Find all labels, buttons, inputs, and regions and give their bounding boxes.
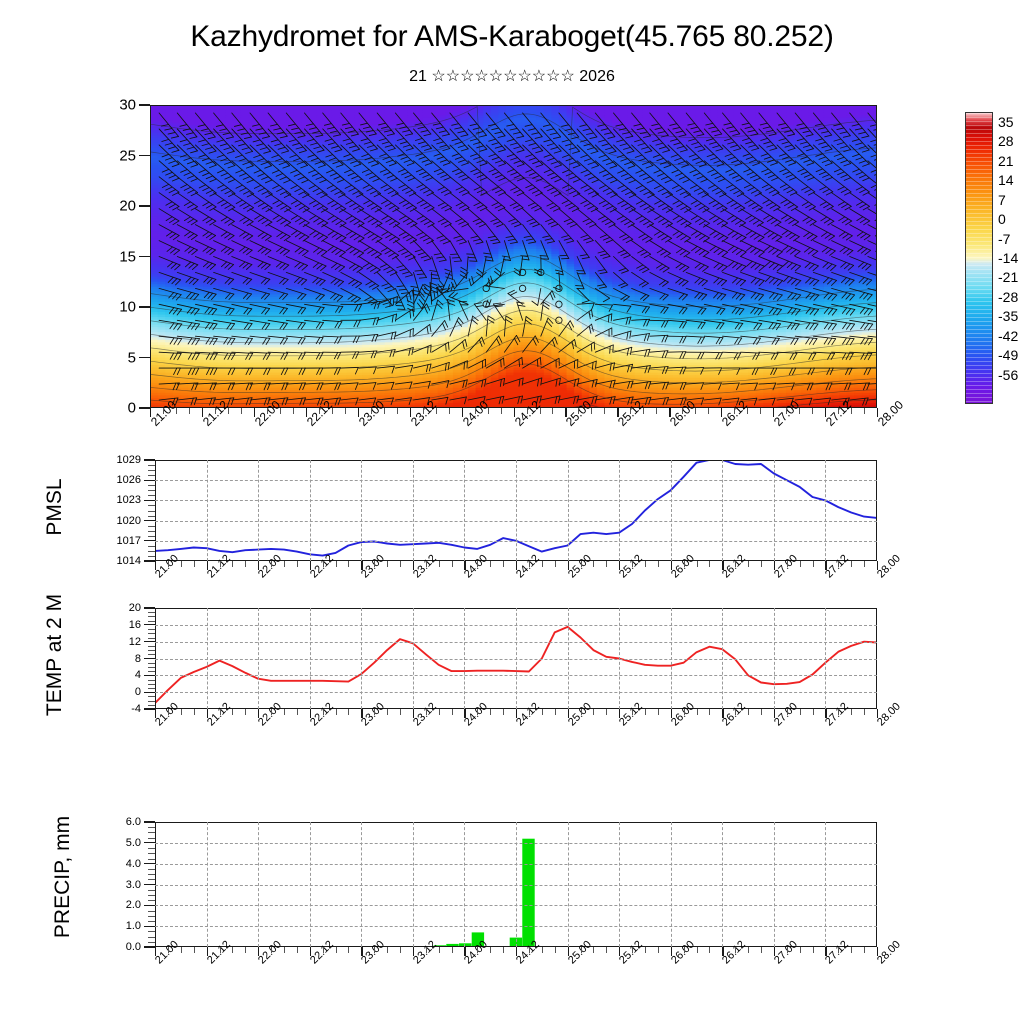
y-tick-label: 1014	[93, 555, 141, 567]
x-tick-minor	[684, 947, 685, 953]
x-tick-minor	[293, 408, 294, 414]
grid-line-horizontal	[155, 541, 877, 542]
y-tick-minor	[148, 551, 155, 552]
x-tick-minor	[864, 561, 865, 567]
x-tick-minor	[490, 561, 491, 567]
y-tick-minor	[148, 650, 155, 651]
colorbar-tick-label: -35	[998, 308, 1018, 324]
y-tick-minor	[148, 832, 155, 833]
x-tick-minor	[658, 947, 659, 953]
x-tick-minor	[581, 561, 582, 567]
x-tick-minor	[374, 947, 375, 953]
x-tick-minor	[643, 408, 644, 414]
y-tick-minor	[148, 879, 155, 880]
y-tick-label: 16	[93, 619, 141, 631]
y-tick-minor	[148, 853, 155, 854]
x-tick-minor	[423, 408, 424, 414]
temp-axis-title: TEMP at 2 M	[43, 580, 67, 730]
x-tick-minor	[787, 947, 788, 953]
x-tick-minor	[684, 561, 685, 567]
x-tick-minor	[241, 408, 242, 414]
y-tick-major	[144, 946, 155, 947]
x-tick-minor	[323, 561, 324, 567]
grid-line-vertical	[825, 460, 826, 561]
y-tick-label: 20	[88, 198, 136, 215]
x-tick-label: 28.00	[875, 701, 903, 729]
x-tick-minor	[323, 709, 324, 715]
x-tick-minor	[658, 709, 659, 715]
grid-line-horizontal	[155, 905, 877, 906]
x-tick-minor	[189, 408, 190, 414]
y-tick-label: 15	[88, 248, 136, 265]
x-tick-minor	[400, 709, 401, 715]
y-tick-major	[139, 205, 150, 206]
x-tick-minor	[555, 709, 556, 715]
y-tick-minor	[148, 874, 155, 875]
x-tick-label: 28.00	[875, 939, 903, 967]
x-tick-minor	[371, 408, 372, 414]
y-tick-major	[144, 641, 155, 642]
x-tick-minor	[656, 408, 657, 414]
x-tick-minor	[503, 709, 504, 715]
y-tick-major	[144, 884, 155, 885]
x-tick-minor	[786, 408, 787, 414]
x-tick-minor	[220, 561, 221, 567]
colorbar-tick-label: -42	[998, 328, 1018, 344]
y-tick-label: -4	[93, 703, 141, 715]
y-tick-major	[144, 560, 155, 561]
y-tick-major	[144, 658, 155, 659]
y-tick-minor	[148, 921, 155, 922]
x-tick-minor	[695, 408, 696, 414]
x-tick-minor	[761, 947, 762, 953]
y-tick-label: 30	[88, 97, 136, 114]
y-tick-minor	[148, 942, 155, 943]
x-tick-minor	[452, 561, 453, 567]
y-tick-minor	[148, 556, 155, 557]
x-tick-minor	[488, 408, 489, 414]
x-tick-minor	[490, 709, 491, 715]
x-tick-minor	[387, 709, 388, 715]
x-tick-minor	[271, 561, 272, 567]
grid-line-vertical	[310, 460, 311, 561]
x-tick-minor	[452, 709, 453, 715]
x-tick-minor	[284, 947, 285, 953]
x-tick-minor	[232, 561, 233, 567]
y-tick-minor	[148, 546, 155, 547]
x-tick-minor	[542, 709, 543, 715]
grid-line-vertical	[516, 460, 517, 561]
x-tick-minor	[194, 709, 195, 715]
y-tick-major	[144, 459, 155, 460]
x-tick-minor	[336, 709, 337, 715]
y-tick-minor	[148, 701, 155, 702]
grid-line-vertical	[774, 460, 775, 561]
y-tick-minor	[148, 684, 155, 685]
grid-line-horizontal	[155, 864, 877, 865]
cross-section-panel: 051015202530 21.0021.1222.0022.1223.0023…	[0, 0, 1024, 455]
x-tick-minor	[232, 947, 233, 953]
y-tick-minor	[148, 869, 155, 870]
x-tick-minor	[748, 947, 749, 953]
y-tick-minor	[148, 470, 155, 471]
x-tick-minor	[748, 561, 749, 567]
y-tick-major	[139, 306, 150, 307]
x-tick-minor	[348, 947, 349, 953]
y-tick-minor	[148, 859, 155, 860]
colorbar-tick-label: -14	[998, 250, 1018, 266]
y-tick-label: 3.0	[93, 879, 141, 891]
x-tick-minor	[630, 408, 631, 414]
grid-line-vertical	[568, 460, 569, 561]
x-tick-minor	[708, 408, 709, 414]
x-tick-minor	[490, 947, 491, 953]
x-tick-minor	[436, 408, 437, 414]
precip-panel: PRECIP, mm 0.01.02.03.04.05.06.0 21.0021…	[0, 810, 1024, 1000]
x-tick-minor	[552, 408, 553, 414]
y-tick-major	[144, 500, 155, 501]
x-tick-minor	[581, 709, 582, 715]
y-tick-minor	[148, 465, 155, 466]
x-tick-minor	[682, 408, 683, 414]
colorbar-tick-label: 0	[998, 211, 1006, 227]
colorbar-tick-label: -28	[998, 289, 1018, 305]
y-tick-minor	[148, 827, 155, 828]
x-tick-minor	[503, 561, 504, 567]
x-tick-minor	[477, 709, 478, 715]
x-tick-minor	[348, 709, 349, 715]
y-tick-minor	[148, 616, 155, 617]
x-tick-minor	[215, 408, 216, 414]
y-tick-label: 25	[88, 147, 136, 164]
y-tick-minor	[148, 680, 155, 681]
x-tick-minor	[787, 709, 788, 715]
y-tick-minor	[148, 900, 155, 901]
x-tick-minor	[439, 947, 440, 953]
x-tick-minor	[800, 709, 801, 715]
y-tick-minor	[148, 629, 155, 630]
grid-line-horizontal	[155, 885, 877, 886]
grid-line-horizontal	[155, 521, 877, 522]
x-tick-minor	[606, 709, 607, 715]
y-tick-minor	[148, 890, 155, 891]
x-tick-minor	[384, 408, 385, 414]
x-tick-minor	[734, 408, 735, 414]
y-tick-minor	[148, 526, 155, 527]
x-tick-minor	[864, 408, 865, 414]
y-tick-major	[144, 480, 155, 481]
temp-panel: TEMP at 2 M -4048121620 21.0021.1222.002…	[0, 598, 1024, 743]
grid-line-vertical	[361, 460, 362, 561]
y-tick-minor	[148, 848, 155, 849]
x-tick-minor	[800, 561, 801, 567]
x-tick-minor	[851, 709, 852, 715]
x-tick-minor	[345, 408, 346, 414]
colorbar-tick-label: -21	[998, 269, 1018, 285]
x-tick-minor	[864, 709, 865, 715]
pmsl-panel: PMSL 101410171020102310261029 21.0021.12…	[0, 450, 1024, 590]
y-tick-minor	[148, 511, 155, 512]
y-tick-major	[144, 624, 155, 625]
colorbar-tick-label: 28	[998, 133, 1014, 149]
x-tick-minor	[709, 709, 710, 715]
y-tick-minor	[148, 838, 155, 839]
x-tick-minor	[336, 561, 337, 567]
colorbar-tick-label: 21	[998, 153, 1014, 169]
x-tick-label: 28.00	[875, 398, 906, 429]
y-tick-minor	[148, 895, 155, 896]
precip-axis-title: PRECIP, mm	[51, 792, 75, 962]
x-tick-minor	[374, 561, 375, 567]
colorbar-band-lines	[966, 113, 992, 403]
x-tick-minor	[864, 947, 865, 953]
y-tick-label: 1023	[93, 494, 141, 506]
x-tick-minor	[735, 561, 736, 567]
x-tick-minor	[632, 561, 633, 567]
x-tick-minor	[632, 947, 633, 953]
y-tick-minor	[148, 505, 155, 506]
x-tick-minor	[267, 408, 268, 414]
x-tick-minor	[684, 709, 685, 715]
x-tick-minor	[280, 408, 281, 414]
x-tick-minor	[220, 709, 221, 715]
x-tick-minor	[851, 408, 852, 414]
x-tick-minor	[735, 709, 736, 715]
x-tick-minor	[735, 947, 736, 953]
x-tick-minor	[400, 947, 401, 953]
cross-section-frame	[150, 105, 877, 408]
y-tick-minor	[148, 667, 155, 668]
x-tick-minor	[593, 561, 594, 567]
y-tick-label: 6.0	[93, 816, 141, 828]
x-tick-minor	[475, 408, 476, 414]
y-tick-label: 1020	[93, 515, 141, 527]
x-tick-minor	[851, 561, 852, 567]
x-tick-minor	[697, 947, 698, 953]
y-tick-major	[139, 155, 150, 156]
x-tick-minor	[284, 709, 285, 715]
y-tick-label: 12	[93, 636, 141, 648]
y-tick-minor	[148, 633, 155, 634]
y-tick-major	[144, 692, 155, 693]
colorbar-tick-label: -56	[998, 367, 1018, 383]
x-tick-minor	[426, 709, 427, 715]
y-tick-minor	[148, 911, 155, 912]
x-tick-minor	[529, 947, 530, 953]
x-tick-minor	[838, 709, 839, 715]
x-tick-minor	[645, 947, 646, 953]
y-tick-label: 1026	[93, 474, 141, 486]
pmsl-axis-title: PMSL	[43, 447, 67, 567]
colorbar-tick-label: 14	[998, 172, 1014, 188]
grid-line-vertical	[671, 460, 672, 561]
x-tick-minor	[168, 561, 169, 567]
x-tick-minor	[477, 947, 478, 953]
y-tick-minor	[148, 490, 155, 491]
y-tick-label: 0.0	[93, 941, 141, 953]
y-tick-minor	[148, 495, 155, 496]
x-tick-minor	[800, 947, 801, 953]
x-tick-minor	[194, 947, 195, 953]
x-tick-minor	[220, 947, 221, 953]
x-tick-minor	[297, 709, 298, 715]
y-tick-minor	[148, 916, 155, 917]
x-tick-minor	[168, 709, 169, 715]
grid-line-horizontal	[155, 625, 877, 626]
y-tick-major	[144, 926, 155, 927]
y-tick-minor	[148, 475, 155, 476]
x-tick-minor	[245, 561, 246, 567]
y-tick-label: 1029	[93, 454, 141, 466]
colorbar-tick-label: -7	[998, 231, 1010, 247]
y-tick-minor	[148, 671, 155, 672]
x-tick-minor	[400, 561, 401, 567]
x-tick-minor	[501, 408, 502, 414]
x-tick-minor	[284, 561, 285, 567]
x-tick-minor	[542, 947, 543, 953]
x-tick-minor	[503, 947, 504, 953]
grid-line-vertical	[464, 460, 465, 561]
y-tick-minor	[148, 696, 155, 697]
y-tick-major	[144, 607, 155, 608]
y-tick-label: 5	[88, 349, 136, 366]
x-tick-minor	[813, 947, 814, 953]
y-tick-minor	[148, 621, 155, 622]
y-tick-label: 1.0	[93, 920, 141, 932]
x-tick-minor	[323, 947, 324, 953]
x-tick-minor	[527, 408, 528, 414]
y-tick-major	[144, 675, 155, 676]
x-tick-minor	[452, 947, 453, 953]
y-tick-label: 2.0	[93, 899, 141, 911]
x-tick-minor	[658, 561, 659, 567]
x-tick-minor	[812, 408, 813, 414]
x-tick-minor	[297, 561, 298, 567]
x-tick-minor	[176, 408, 177, 414]
x-tick-minor	[319, 408, 320, 414]
y-tick-major	[144, 905, 155, 906]
x-tick-minor	[851, 947, 852, 953]
x-tick-minor	[245, 709, 246, 715]
x-tick-minor	[838, 408, 839, 414]
y-tick-major	[144, 708, 155, 709]
x-tick-minor	[168, 947, 169, 953]
x-tick-minor	[297, 947, 298, 953]
x-tick-minor	[697, 709, 698, 715]
x-tick-minor	[709, 561, 710, 567]
x-tick-minor	[709, 947, 710, 953]
x-tick-minor	[747, 408, 748, 414]
y-tick-label: 5.0	[93, 837, 141, 849]
y-tick-major	[139, 256, 150, 257]
grid-line-vertical	[722, 460, 723, 561]
x-tick-minor	[645, 709, 646, 715]
x-tick-minor	[813, 709, 814, 715]
x-tick-minor	[181, 709, 182, 715]
grid-line-horizontal	[155, 675, 877, 676]
x-tick-minor	[163, 408, 164, 414]
y-tick-major	[144, 842, 155, 843]
x-tick-minor	[555, 947, 556, 953]
x-tick-minor	[645, 561, 646, 567]
grid-line-horizontal	[155, 500, 877, 501]
colorbar-gradient	[965, 112, 993, 404]
x-tick-minor	[540, 408, 541, 414]
x-tick-minor	[194, 561, 195, 567]
y-tick-label: 4	[93, 669, 141, 681]
x-tick-minor	[581, 947, 582, 953]
x-tick-minor	[332, 408, 333, 414]
x-tick-minor	[271, 947, 272, 953]
colorbar-tick-label: -49	[998, 347, 1018, 363]
x-tick-minor	[228, 408, 229, 414]
y-tick-minor	[148, 516, 155, 517]
grid-line-horizontal	[155, 480, 877, 481]
x-tick-minor	[799, 408, 800, 414]
x-tick-minor	[578, 408, 579, 414]
y-tick-major	[139, 104, 150, 105]
y-tick-major	[139, 407, 150, 408]
x-tick-minor	[593, 709, 594, 715]
y-tick-major	[139, 357, 150, 358]
x-tick-minor	[387, 561, 388, 567]
x-tick-minor	[604, 408, 605, 414]
grid-line-horizontal	[155, 659, 877, 660]
y-tick-major	[144, 863, 155, 864]
x-tick-minor	[477, 561, 478, 567]
y-tick-minor	[148, 705, 155, 706]
grid-line-horizontal	[155, 692, 877, 693]
grid-line-vertical	[413, 460, 414, 561]
x-tick-label: 28.00	[875, 553, 903, 581]
y-tick-minor	[148, 612, 155, 613]
x-tick-minor	[838, 561, 839, 567]
grid-line-horizontal	[155, 843, 877, 844]
y-tick-minor	[148, 688, 155, 689]
x-tick-minor	[761, 561, 762, 567]
grid-line-horizontal	[155, 926, 877, 927]
y-tick-minor	[148, 663, 155, 664]
y-tick-minor	[148, 531, 155, 532]
x-tick-minor	[697, 561, 698, 567]
x-tick-minor	[542, 561, 543, 567]
x-tick-minor	[593, 947, 594, 953]
x-tick-minor	[387, 947, 388, 953]
x-tick-minor	[606, 561, 607, 567]
x-tick-minor	[606, 947, 607, 953]
y-tick-label: 20	[93, 602, 141, 614]
x-tick-minor	[748, 709, 749, 715]
x-tick-minor	[374, 709, 375, 715]
y-tick-major	[144, 821, 155, 822]
x-tick-minor	[397, 408, 398, 414]
y-tick-minor	[148, 485, 155, 486]
y-tick-label: 0	[93, 686, 141, 698]
x-tick-minor	[813, 561, 814, 567]
x-tick-minor	[181, 561, 182, 567]
x-tick-minor	[761, 709, 762, 715]
x-tick-minor	[336, 947, 337, 953]
x-tick-minor	[232, 709, 233, 715]
colorbar-tick-label: 7	[998, 192, 1006, 208]
x-tick-minor	[838, 947, 839, 953]
y-tick-label: 8	[93, 653, 141, 665]
y-tick-major	[144, 520, 155, 521]
x-tick-minor	[348, 561, 349, 567]
grid-line-vertical	[619, 460, 620, 561]
x-tick-minor	[591, 408, 592, 414]
x-tick-minor	[760, 408, 761, 414]
